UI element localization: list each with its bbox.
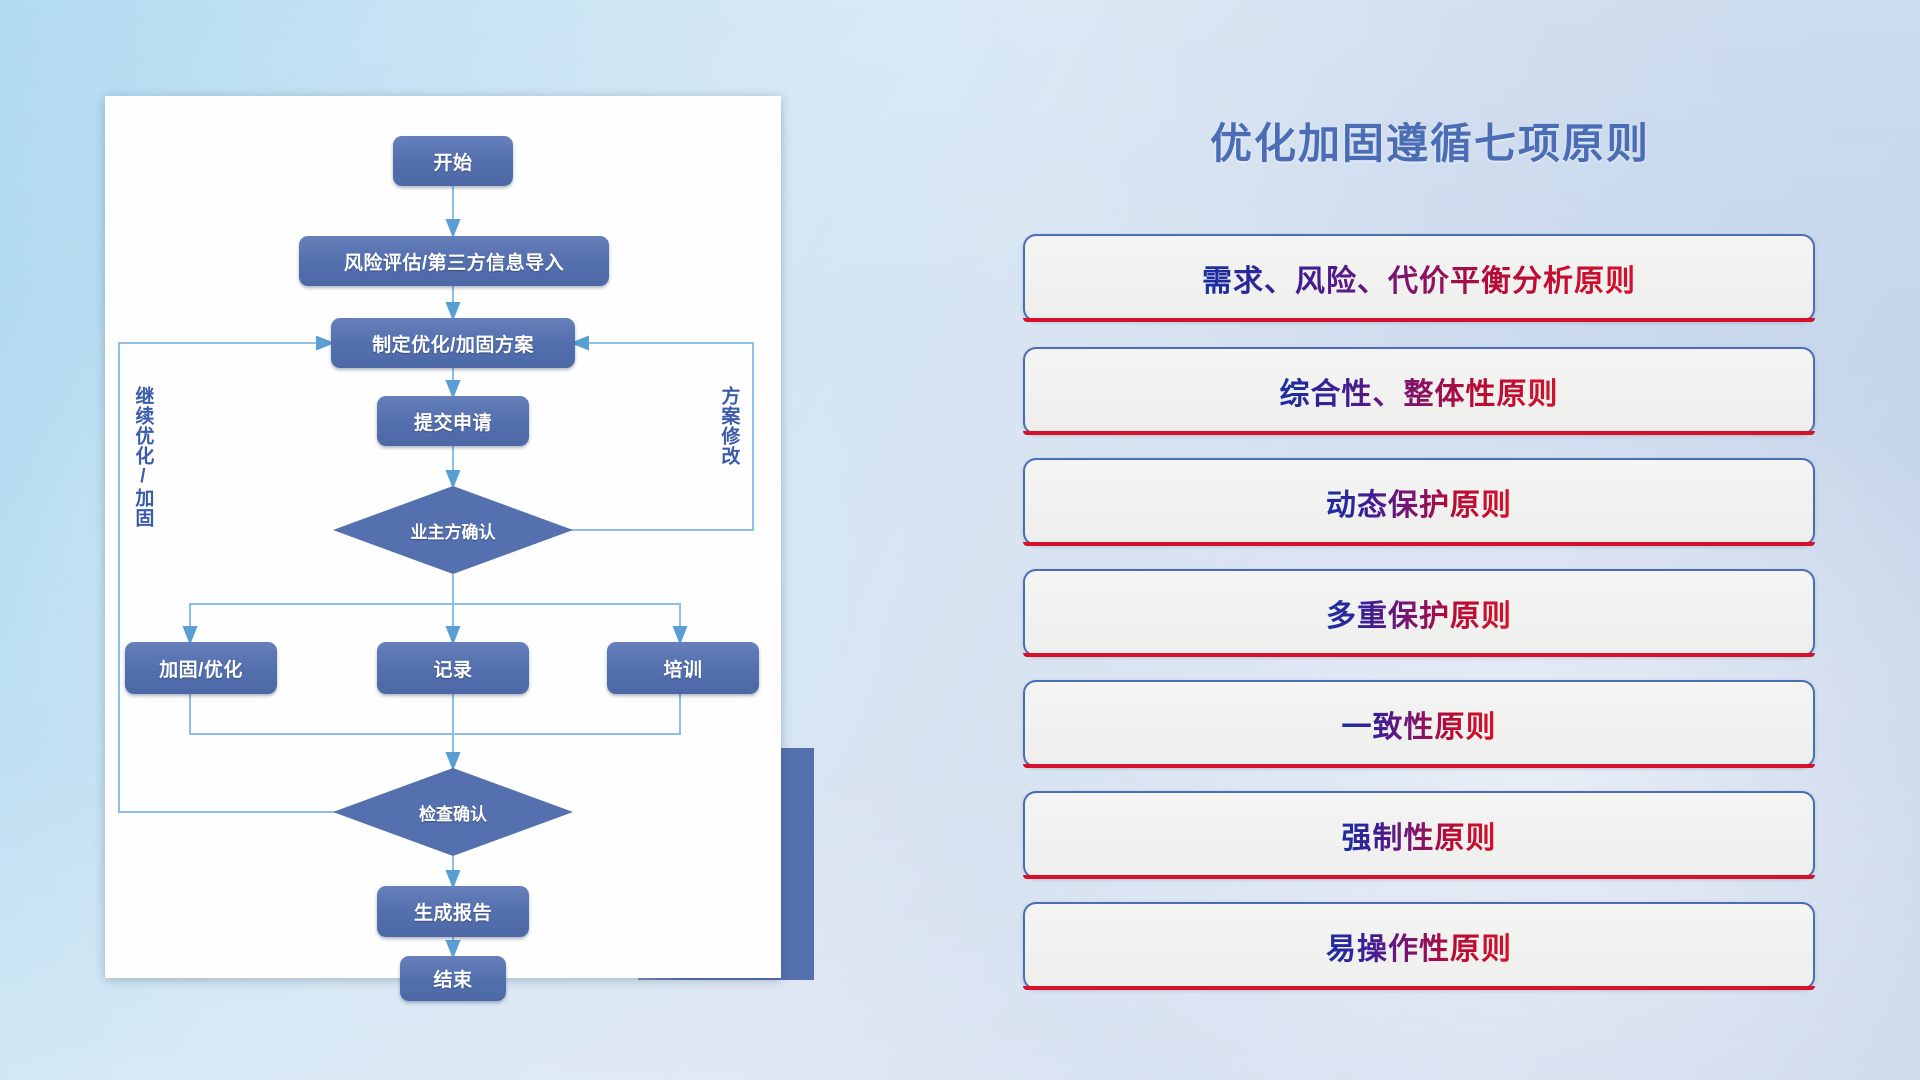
flow-node-end-label: 结束 xyxy=(433,965,472,992)
flow-node-owner-confirm[interactable]: 业主方确认 xyxy=(333,486,573,574)
flow-node-record-label: 记录 xyxy=(433,655,472,682)
flow-node-risk-assessment-label: 风险评估/第三方信息导入 xyxy=(344,248,564,275)
principle-item-7[interactable]: 易操作性原则 xyxy=(1023,902,1815,990)
flow-node-report[interactable]: 生成报告 xyxy=(377,886,529,937)
principle-item-7-label: 易操作性原则 xyxy=(1326,924,1512,968)
edge-label-plan-revision: 方案修改 xyxy=(719,386,738,526)
flow-node-start[interactable]: 开始 xyxy=(393,136,513,186)
principle-item-6[interactable]: 强制性原则 xyxy=(1023,791,1815,879)
principle-item-2-label: 综合性、整体性原则 xyxy=(1280,369,1559,413)
flow-node-plan-label: 制定优化/加固方案 xyxy=(372,330,534,357)
principle-item-6-label: 强制性原则 xyxy=(1342,813,1497,857)
flow-node-reinforce-label: 加固/优化 xyxy=(159,655,243,682)
flow-node-end[interactable]: 结束 xyxy=(400,956,506,1001)
flowchart-card: 开始 风险评估/第三方信息导入 制定优化/加固方案 提交申请 业主方确认 加固/… xyxy=(105,96,781,978)
flow-node-start-label: 开始 xyxy=(433,148,472,175)
principle-item-4[interactable]: 多重保护原则 xyxy=(1023,569,1815,657)
principles-title: 优化加固遵循七项原则 xyxy=(1150,110,1710,171)
principle-item-3[interactable]: 动态保护原则 xyxy=(1023,458,1815,546)
flow-node-check-confirm[interactable]: 检查确认 xyxy=(333,768,573,856)
flow-node-submit[interactable]: 提交申请 xyxy=(377,396,529,446)
principle-item-5-label: 一致性原则 xyxy=(1342,702,1497,746)
principle-item-3-label: 动态保护原则 xyxy=(1326,480,1512,524)
flow-node-risk-assessment[interactable]: 风险评估/第三方信息导入 xyxy=(299,236,609,286)
flowchart: 开始 风险评估/第三方信息导入 制定优化/加固方案 提交申请 业主方确认 加固/… xyxy=(105,96,781,978)
principle-item-5[interactable]: 一致性原则 xyxy=(1023,680,1815,768)
principle-item-4-label: 多重保护原则 xyxy=(1326,591,1512,635)
flow-node-record[interactable]: 记录 xyxy=(377,642,529,694)
flow-node-report-label: 生成报告 xyxy=(414,898,492,925)
flow-node-plan[interactable]: 制定优化/加固方案 xyxy=(331,318,575,368)
flow-node-reinforce[interactable]: 加固/优化 xyxy=(125,642,277,694)
flow-node-training[interactable]: 培训 xyxy=(607,642,759,694)
principle-item-2[interactable]: 综合性、整体性原则 xyxy=(1023,347,1815,435)
flow-node-owner-confirm-label: 业主方确认 xyxy=(333,486,573,574)
flow-node-training-label: 培训 xyxy=(663,655,702,682)
edge-label-continue-optimize: 继续优化/加固 xyxy=(133,386,152,586)
principle-item-1-label: 需求、风险、代价平衡分析原则 xyxy=(1202,256,1636,300)
flow-node-check-confirm-label: 检查确认 xyxy=(333,768,573,856)
flow-node-submit-label: 提交申请 xyxy=(414,408,492,435)
principle-item-1[interactable]: 需求、风险、代价平衡分析原则 xyxy=(1023,234,1815,322)
